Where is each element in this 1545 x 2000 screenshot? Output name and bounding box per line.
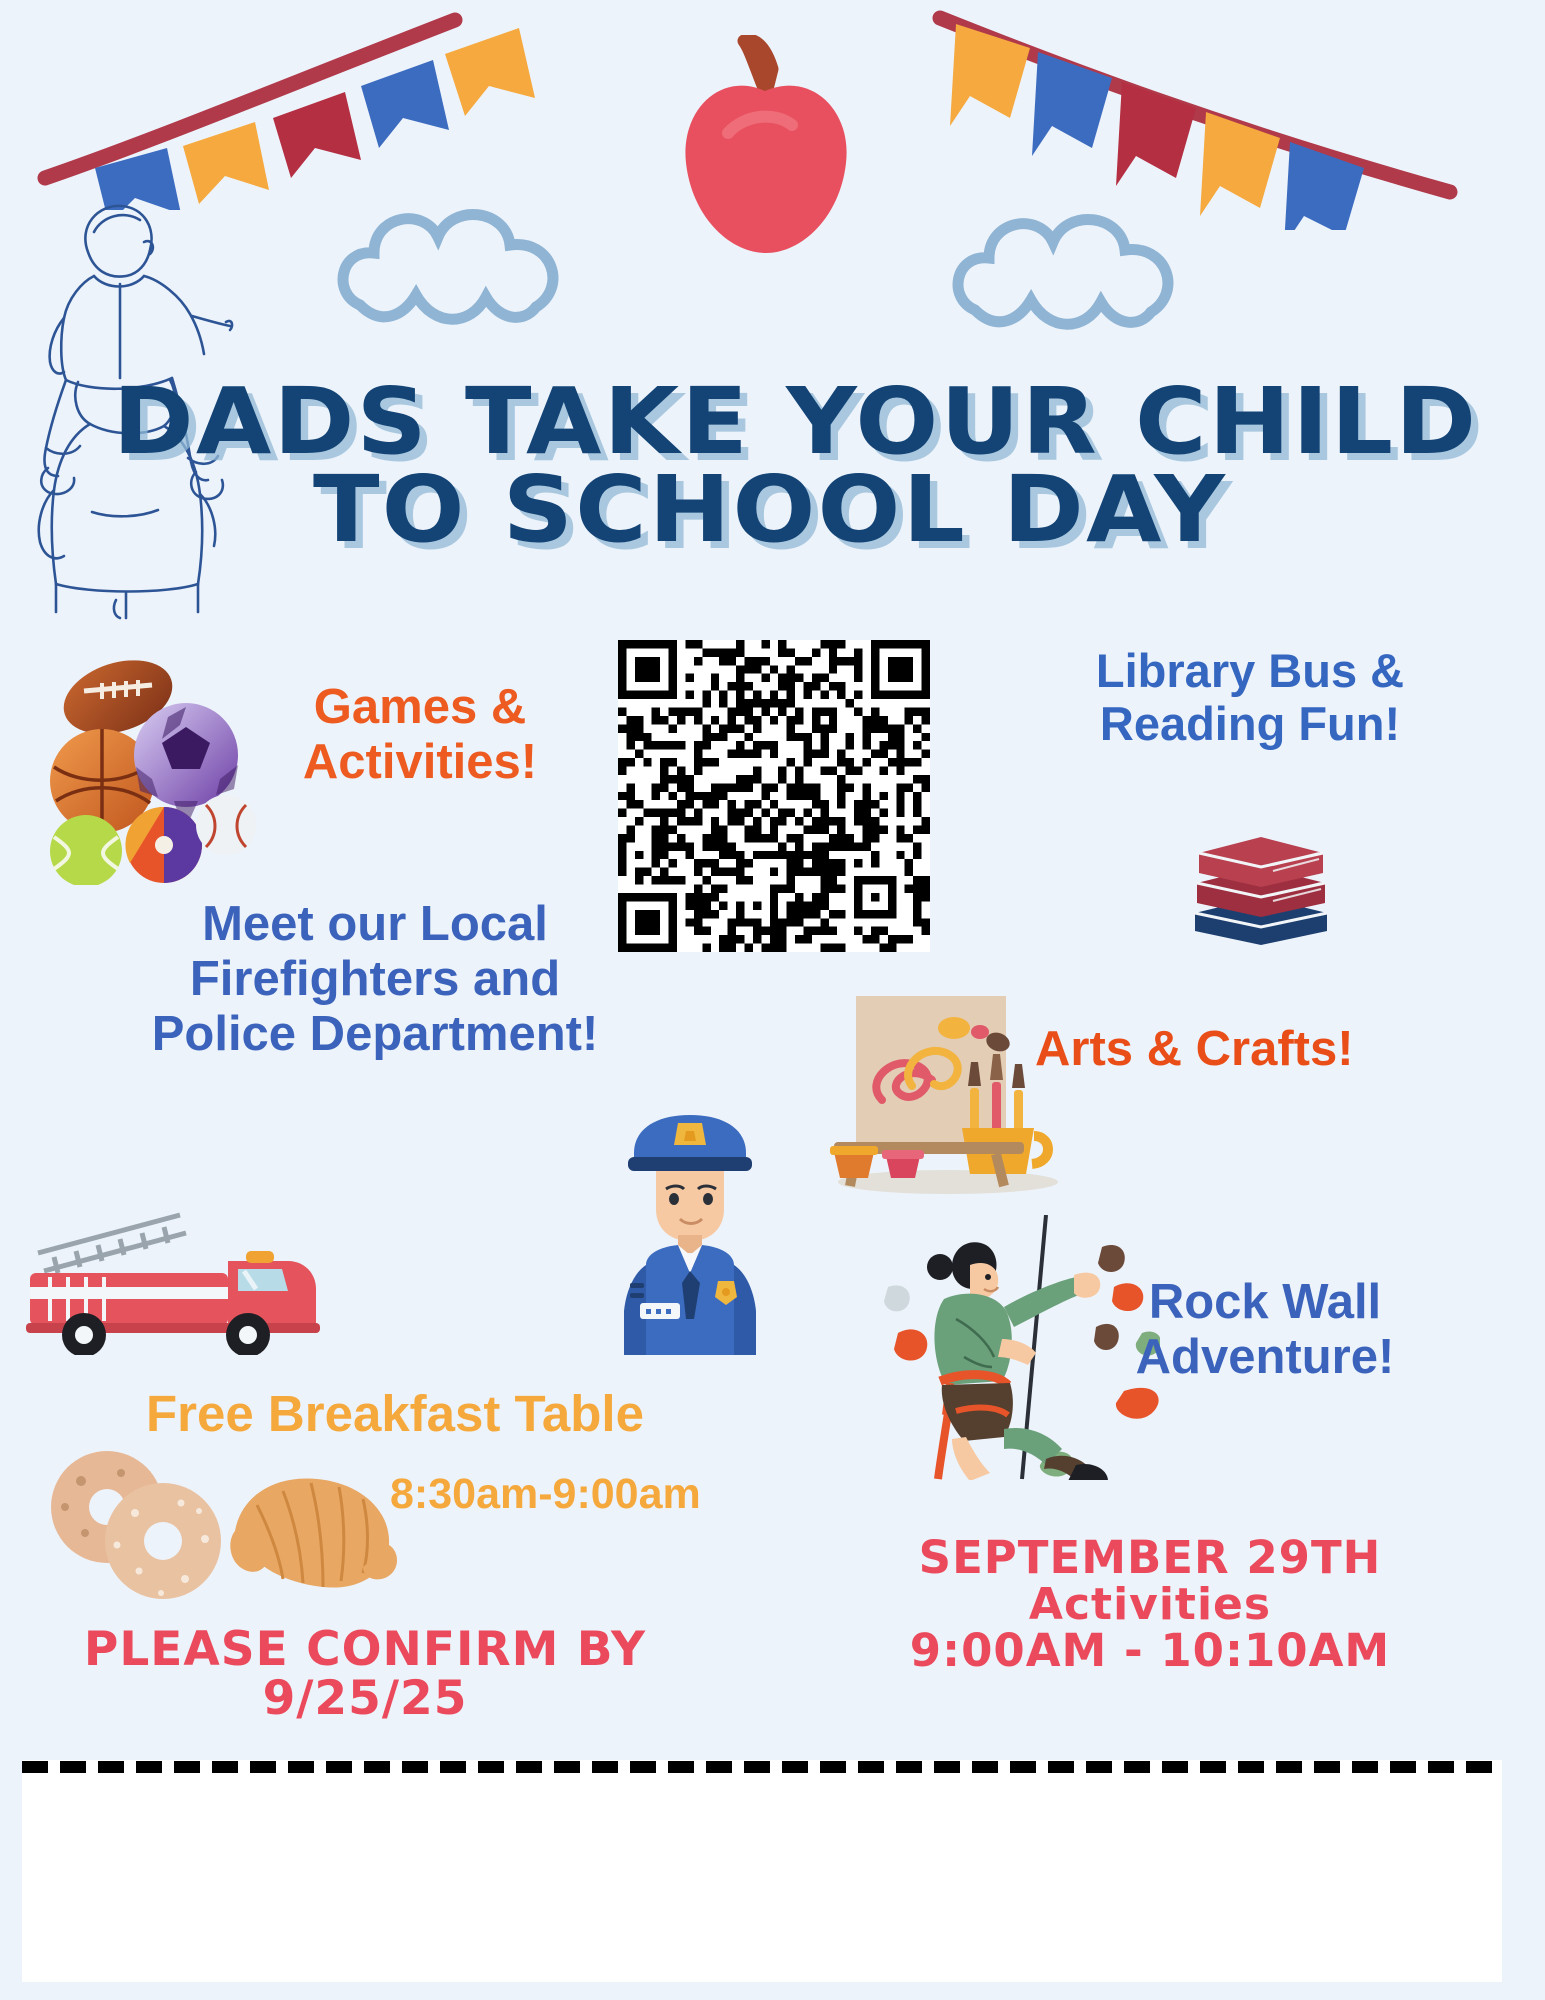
qr-code-icon[interactable] [618,640,930,952]
highlight-arts-crafts: Arts & Crafts! [1035,1022,1455,1077]
bunting-icon [35,0,595,210]
event-date: September 29th [870,1535,1430,1582]
highlight-games-activities: Games & Activities! [255,680,585,790]
breakfast-label: Free Breakfast Table [75,1385,715,1442]
bagel-and-croissant-icon [35,1445,405,1605]
tear-off-dashed-divider [22,1761,1502,1773]
flyer-poster: Dads Take Your Child To School Day Games… [0,0,1545,2000]
confirm-by-label: Please Confirm By [55,1626,675,1675]
bunting-icon [930,0,1490,230]
highlight-rock-wall: Rock Wall Adventure! [1075,1275,1455,1385]
title-line-2: To School Day [113,466,1427,554]
stacked-books-icon [1185,805,1335,950]
highlight-library-bus: Library Bus & Reading Fun! [1050,645,1450,750]
event-time: 9:00AM - 10:10AM [870,1628,1430,1675]
police-officer-icon [600,1105,780,1355]
art-easel-icon [820,990,1070,1200]
event-subtitle: Activities [870,1582,1430,1628]
event-details-block: September 29th Activities 9:00AM - 10:10… [870,1535,1430,1674]
title-line-1: Dads Take Your Child [113,378,1427,466]
sports-balls-icon [40,655,280,885]
highlight-firefighters-police: Meet our Local Firefighters and Police D… [150,897,600,1062]
cloud-icon [330,195,580,335]
confirm-by-date: 9/25/25 [55,1675,675,1724]
apple-icon [670,35,860,265]
fire-truck-icon [20,1195,350,1355]
cloud-icon [945,200,1195,340]
confirm-by-block: Please Confirm By 9/25/25 [55,1626,675,1724]
page-title: Dads Take Your Child To School Day [150,378,1390,555]
qr-code-canvas [618,640,930,952]
tear-off-form [22,1760,1502,1982]
breakfast-time: 8:30am-9:00am [390,1470,790,1518]
